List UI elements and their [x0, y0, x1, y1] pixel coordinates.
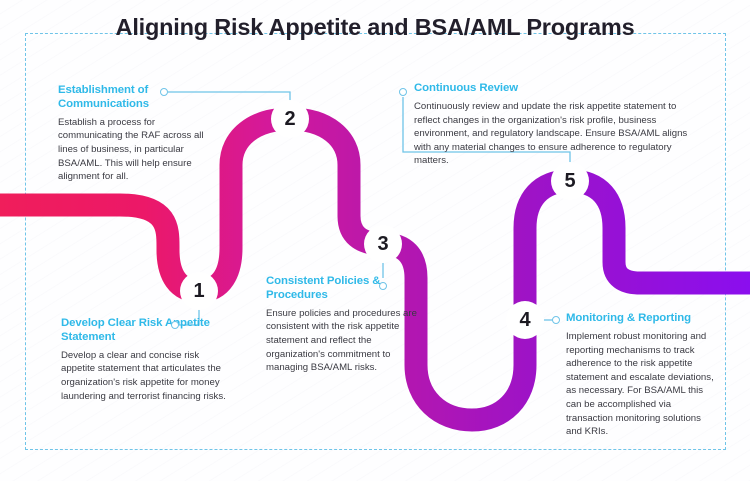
- step-block-consistent-policies-procedures: Consistent Policies & Procedures Ensure …: [266, 275, 418, 375]
- step-circle-1[interactable]: 1: [180, 272, 218, 310]
- step-body-3: Ensure policies and procedures are consi…: [266, 307, 418, 375]
- infographic-canvas: Aligning Risk Appetite and BSA/AML Progr…: [0, 0, 750, 481]
- connector-dot-step2: [160, 88, 168, 96]
- step-body-4: Implement robust monitoring and reportin…: [566, 330, 714, 439]
- step-body-5: Continuously review and update the risk …: [414, 100, 704, 168]
- step-body-2: Establish a process for communicating th…: [58, 116, 218, 184]
- connector-dot-step3: [379, 282, 387, 290]
- step-circle-2[interactable]: 2: [271, 100, 309, 138]
- connector-dot-step4: [552, 316, 560, 324]
- step-block-monitoring-reporting: Monitoring & Reporting Implement robust …: [566, 312, 714, 439]
- step-number-3: 3: [377, 233, 388, 256]
- step-block-develop-clear-risk-appetite-statement: Develop Clear Risk Appetite Statement De…: [61, 317, 226, 403]
- step-heading-4: Monitoring & Reporting: [566, 312, 714, 326]
- step-circle-5[interactable]: 5: [551, 162, 589, 200]
- connector-dot-step1: [171, 321, 179, 329]
- step-body-1: Develop a clear and concise risk appetit…: [61, 349, 226, 403]
- page-title: Aligning Risk Appetite and BSA/AML Progr…: [0, 14, 750, 41]
- step-number-2: 2: [284, 108, 295, 131]
- step-number-5: 5: [564, 170, 575, 193]
- step-block-establishment-of-communications: Establishment of Communications Establis…: [58, 84, 218, 184]
- step-circle-3[interactable]: 3: [364, 225, 402, 263]
- step-heading-2: Establishment of Communications: [58, 84, 218, 112]
- step-number-1: 1: [193, 280, 204, 303]
- step-circle-4[interactable]: 4: [506, 301, 544, 339]
- step-heading-3: Consistent Policies & Procedures: [266, 275, 418, 303]
- connector-dot-step5: [399, 88, 407, 96]
- step-heading-5: Continuous Review: [414, 82, 704, 96]
- step-heading-1: Develop Clear Risk Appetite Statement: [61, 317, 226, 345]
- step-block-continuous-review: Continuous Review Continuously review an…: [414, 82, 704, 168]
- step-number-4: 4: [519, 309, 530, 332]
